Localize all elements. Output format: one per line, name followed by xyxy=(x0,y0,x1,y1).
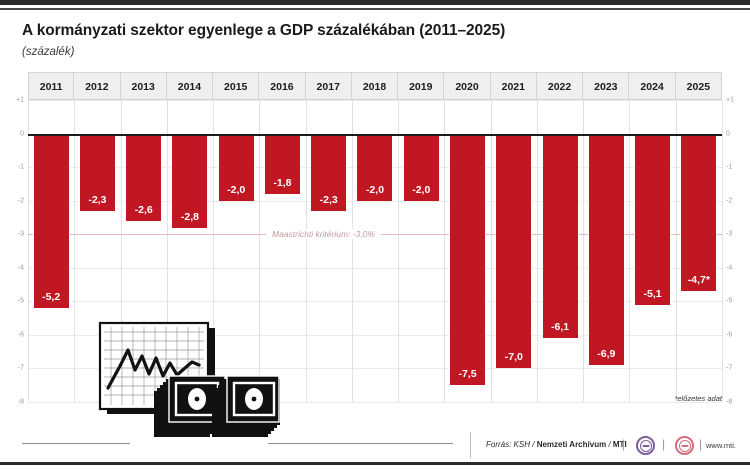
gridline-vertical xyxy=(74,100,75,402)
bar-label-2017: -2,3 xyxy=(310,194,347,206)
gridline-vertical xyxy=(629,100,630,402)
gridline-vertical xyxy=(398,100,399,402)
source-attribution: Forrás: KSH / Nemzeti Archívum / MTI xyxy=(486,440,627,449)
gridline-vertical xyxy=(444,100,445,402)
bar-label-2022: -6,1 xyxy=(542,321,579,333)
bar-2011[interactable] xyxy=(33,134,70,308)
gridline-vertical xyxy=(676,100,677,402)
bar-label-2018: -2,0 xyxy=(356,184,393,196)
y-axis-tick-right: -8 xyxy=(726,399,748,406)
bar-label-2013: -2,6 xyxy=(125,204,162,216)
year-header-2014: 2014 xyxy=(167,73,213,101)
y-axis-tick-left: -8 xyxy=(2,399,24,406)
footer-pipe-3: | xyxy=(699,437,702,451)
bar-2024[interactable] xyxy=(634,134,671,305)
year-header-2017: 2017 xyxy=(306,73,352,101)
year-header-2021: 2021 xyxy=(491,73,537,101)
year-header-2011: 2011 xyxy=(28,73,74,101)
year-header-2013: 2013 xyxy=(121,73,167,101)
footer-pipe-1: | xyxy=(622,437,625,451)
bar-label-2015: -2,0 xyxy=(218,184,255,196)
infographic-page: A kormányzati szektor egyenlege a GDP sz… xyxy=(0,0,750,469)
y-axis-tick-right: +1 xyxy=(726,97,748,104)
bar-label-2024: -5,1 xyxy=(634,288,671,300)
bar-2021[interactable] xyxy=(495,134,532,369)
mti-logo-left[interactable] xyxy=(636,436,655,455)
y-axis-tick-right: -6 xyxy=(726,331,748,338)
bar-label-2025: -4,7* xyxy=(680,274,717,286)
y-axis-tick-left: -5 xyxy=(2,298,24,305)
year-header-2016: 2016 xyxy=(259,73,305,101)
year-header-2023: 2023 xyxy=(583,73,629,101)
website-url: www.mti. xyxy=(706,441,736,450)
maastricht-criterion-label: Maastrichti kritérium: -3,0% xyxy=(266,229,381,239)
y-axis-tick-left: -6 xyxy=(2,331,24,338)
gridline-vertical xyxy=(28,100,29,402)
year-header-2012: 2012 xyxy=(74,73,120,101)
y-axis-tick-right: -3 xyxy=(726,231,748,238)
y-axis-tick-left: -7 xyxy=(2,365,24,372)
gridline-vertical xyxy=(352,100,353,402)
top-rule-secondary xyxy=(0,8,750,10)
y-axis-tick-left: +1 xyxy=(2,97,24,104)
footer-rule-right xyxy=(268,443,453,444)
y-axis-tick-left: -3 xyxy=(2,231,24,238)
bar-label-2016: -1,8 xyxy=(264,177,301,189)
source-slash: / xyxy=(608,440,610,449)
year-header-2018: 2018 xyxy=(352,73,398,101)
y-axis-tick-left: -4 xyxy=(2,264,24,271)
mti-logo-left-bar xyxy=(642,445,649,447)
footnote: *előzetes adat xyxy=(674,394,722,403)
y-axis-tick-left: 0 xyxy=(2,130,24,137)
gridline-horizontal xyxy=(28,100,722,101)
bar-label-2020: -7,5 xyxy=(449,368,486,380)
y-axis-tick-right: -1 xyxy=(726,164,748,171)
page-title: A kormányzati szektor egyenlege a GDP sz… xyxy=(22,22,505,40)
gridline-vertical xyxy=(583,100,584,402)
bar-label-2023: -6,9 xyxy=(588,348,625,360)
bar-label-2021: -7,0 xyxy=(495,351,532,363)
year-header-2020: 2020 xyxy=(444,73,490,101)
y-axis-tick-right: -4 xyxy=(726,264,748,271)
y-axis-tick-right: 0 xyxy=(726,130,748,137)
source-prefix: Forrás: KSH / xyxy=(486,440,534,449)
top-rule-primary xyxy=(0,0,750,5)
page-subtitle: (százalék) xyxy=(22,46,74,58)
y-axis-tick-left: -2 xyxy=(2,197,24,204)
zero-axis-line xyxy=(28,134,722,136)
mti-logo-right[interactable] xyxy=(675,436,694,455)
mti-logo-right-bar xyxy=(681,445,688,447)
bar-label-2012: -2,3 xyxy=(79,194,116,206)
year-header-2015: 2015 xyxy=(213,73,259,101)
source-archive: Nemzeti Archívum xyxy=(537,440,607,449)
gridline-vertical xyxy=(306,100,307,402)
year-header-band: 2011201220132014201520162017201820192020… xyxy=(28,72,722,100)
chart-and-money-illustration xyxy=(95,318,280,446)
bar-2020[interactable] xyxy=(449,134,486,386)
y-axis-tick-right: -5 xyxy=(726,298,748,305)
bar-2023[interactable] xyxy=(588,134,625,366)
y-axis-tick-right: -7 xyxy=(726,365,748,372)
year-header-2024: 2024 xyxy=(629,73,675,101)
bar-2025[interactable] xyxy=(680,134,717,292)
bar-label-2014: -2,8 xyxy=(171,211,208,223)
gridline-vertical xyxy=(537,100,538,402)
year-header-2022: 2022 xyxy=(537,73,583,101)
y-axis-tick-left: -1 xyxy=(2,164,24,171)
bottom-rule xyxy=(0,462,750,465)
y-axis-tick-right: -2 xyxy=(726,197,748,204)
gridline-vertical xyxy=(722,100,723,402)
footer-divider xyxy=(470,432,471,458)
bar-label-2011: -5,2 xyxy=(33,291,70,303)
footer-rule-left xyxy=(22,443,130,444)
footer-pipe-2: | xyxy=(662,437,665,451)
bar-label-2019: -2,0 xyxy=(403,184,440,196)
gridline-vertical xyxy=(491,100,492,402)
bar-2022[interactable] xyxy=(542,134,579,339)
year-header-2019: 2019 xyxy=(398,73,444,101)
year-header-2025: 2025 xyxy=(676,73,722,101)
